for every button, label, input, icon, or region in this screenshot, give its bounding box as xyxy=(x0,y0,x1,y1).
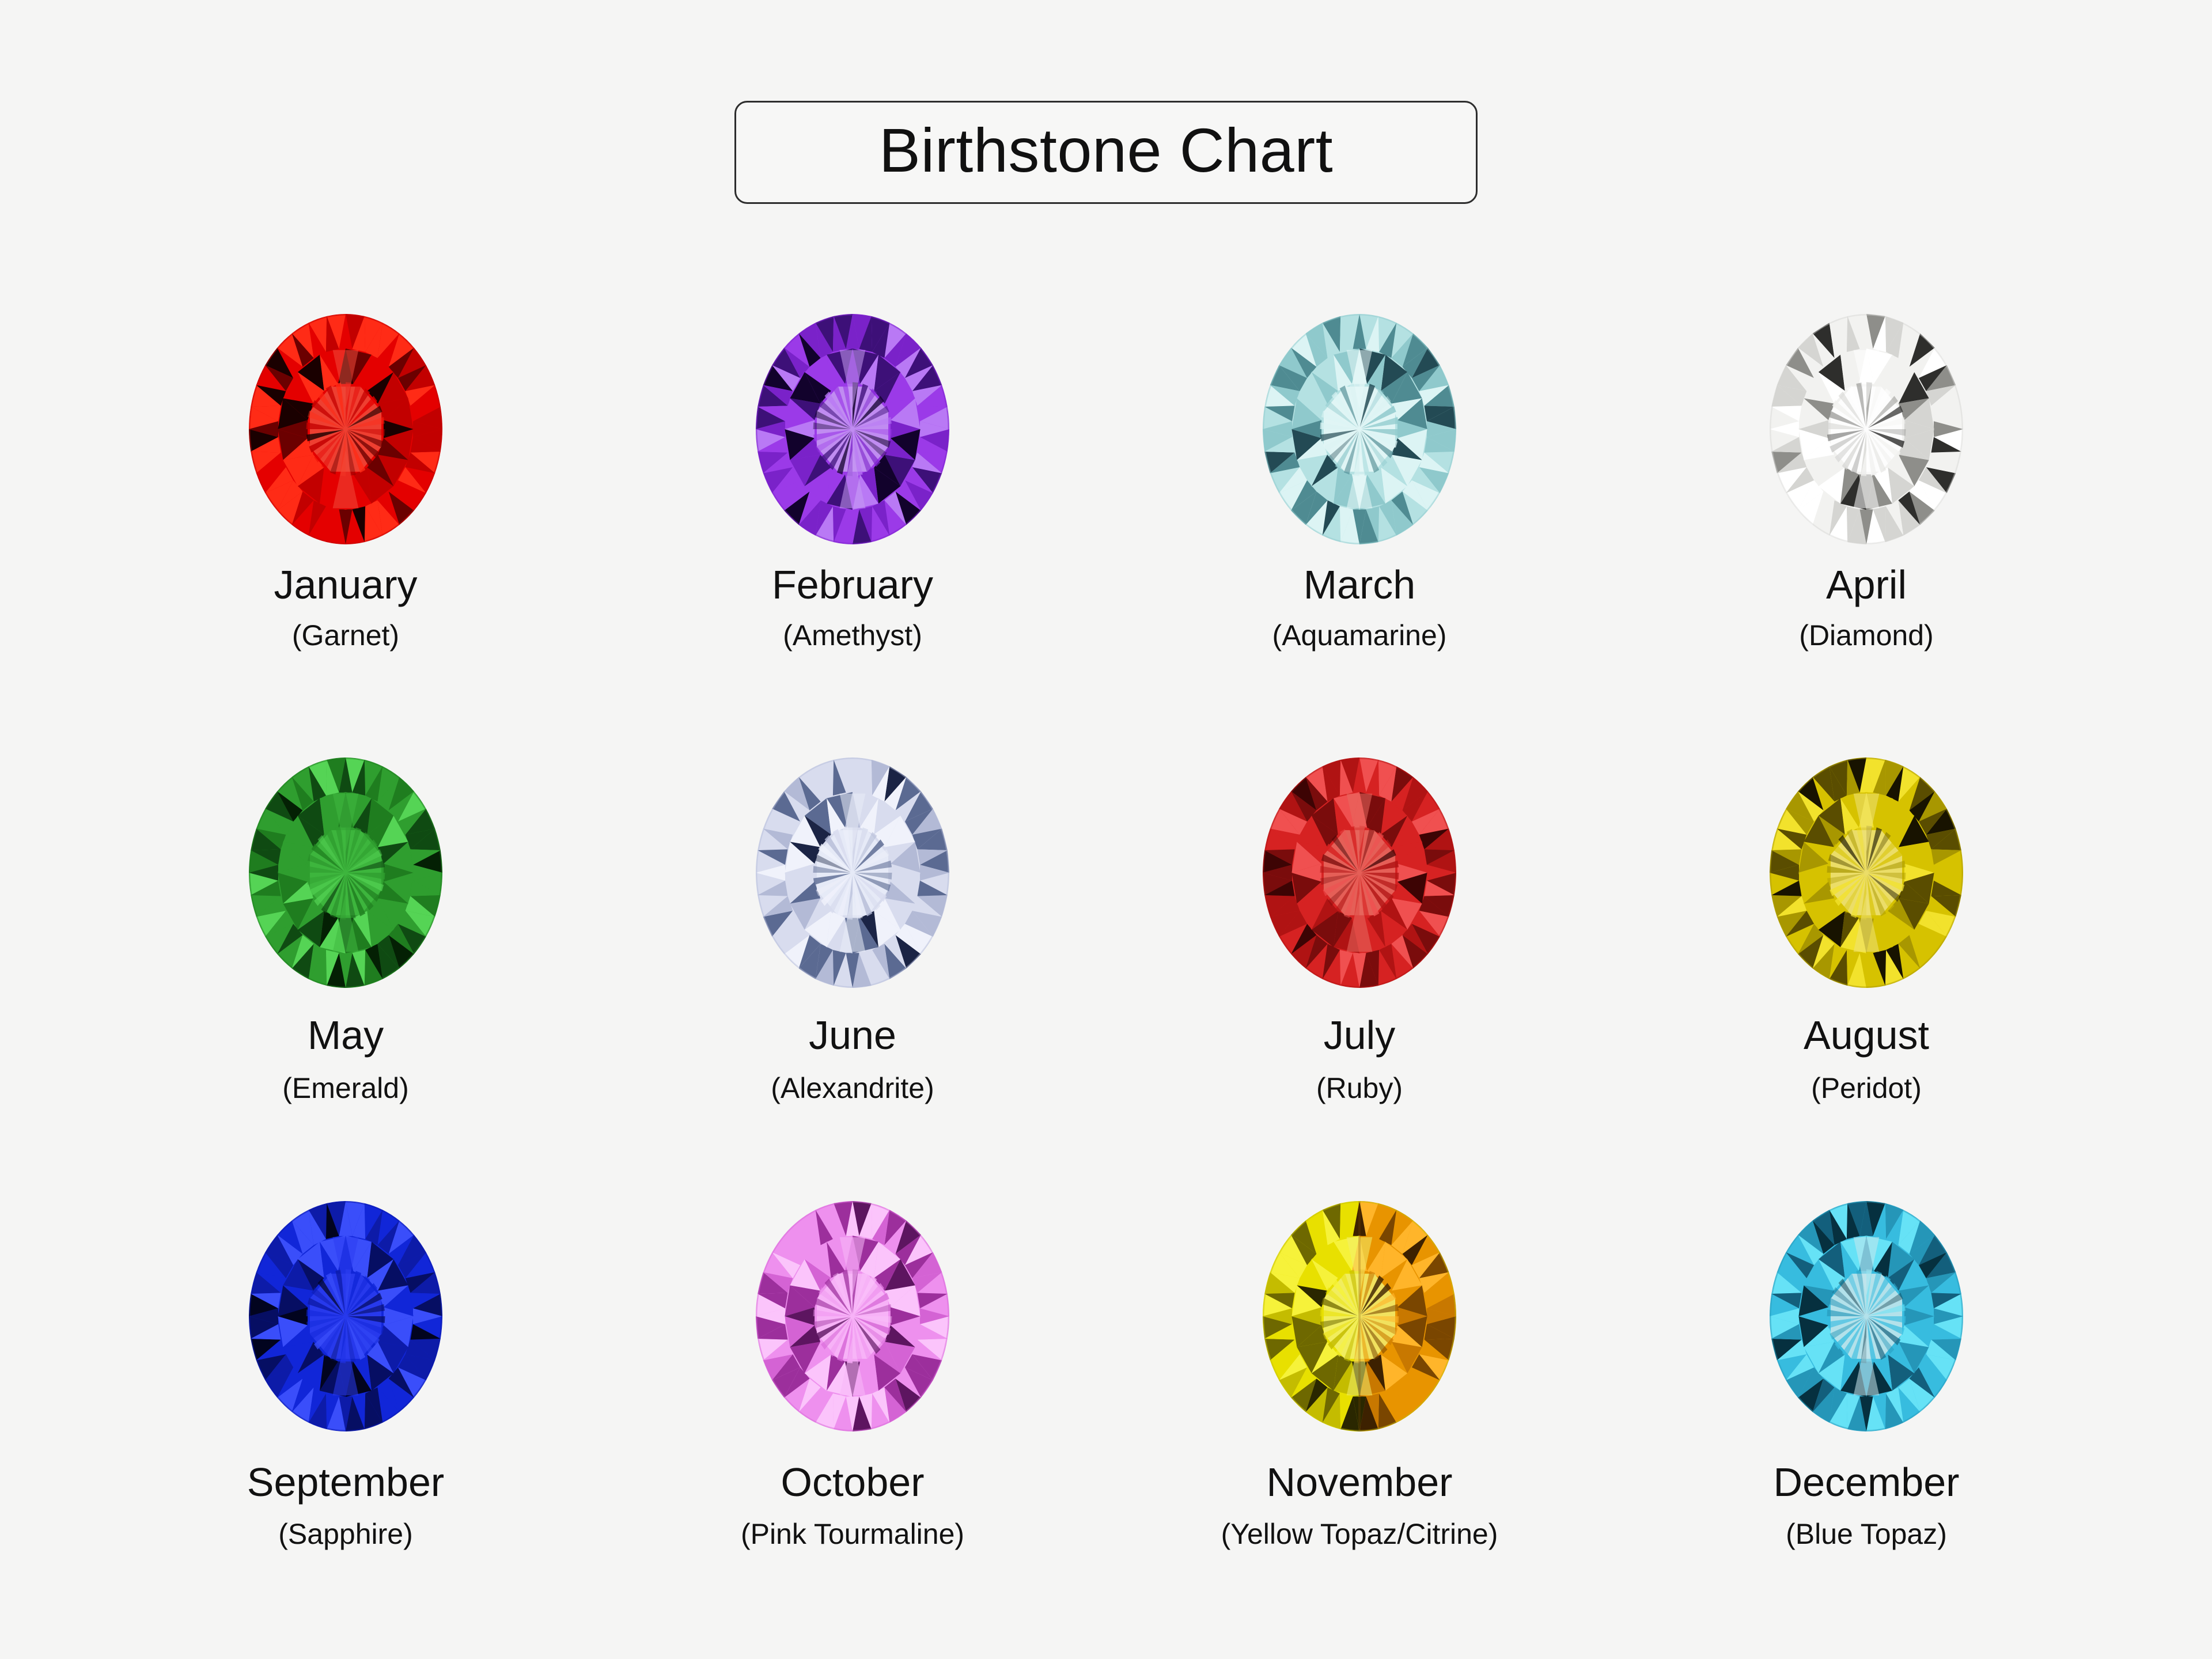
month-label: July xyxy=(1324,1015,1395,1055)
stone-label: (Amethyst) xyxy=(783,621,922,650)
gem-alexandrite-icon xyxy=(734,755,971,991)
gem-image-april xyxy=(1748,311,1984,547)
stone-label: (Garnet) xyxy=(292,621,399,650)
stone-label: (Ruby) xyxy=(1316,1074,1403,1103)
birthstone-cell-september[interactable]: September(Sapphire) xyxy=(92,1198,599,1642)
gem-aquamarine-icon xyxy=(1241,311,1478,547)
stone-label: (Alexandrite) xyxy=(771,1074,934,1103)
stone-label: (Aquamarine) xyxy=(1272,621,1447,650)
birthstone-chart-page: Birthstone Chart January(Garnet)February… xyxy=(0,0,2212,1659)
gem-image-february xyxy=(734,311,971,547)
month-label: April xyxy=(1826,565,1907,605)
birthstone-cell-july[interactable]: July(Ruby) xyxy=(1106,755,1613,1198)
stone-label: (Yellow Topaz/Citrine) xyxy=(1221,1520,1498,1548)
stone-label: (Pink Tourmaline) xyxy=(741,1520,964,1548)
month-label: May xyxy=(308,1015,384,1055)
gem-image-july xyxy=(1241,755,1478,991)
gem-amethyst-icon xyxy=(734,311,971,547)
month-label: October xyxy=(781,1462,925,1502)
gem-peridot-icon xyxy=(1748,755,1984,991)
month-label: February xyxy=(772,565,933,605)
month-label: June xyxy=(809,1015,896,1055)
stone-label: (Blue Topaz) xyxy=(1786,1520,1947,1548)
birthstone-cell-august[interactable]: August(Peridot) xyxy=(1613,755,2120,1198)
month-label: December xyxy=(1774,1462,1960,1502)
gem-sapphire-icon xyxy=(228,1198,464,1434)
gem-blue-topaz-icon xyxy=(1748,1198,1984,1434)
gem-image-january xyxy=(228,311,464,547)
month-label: September xyxy=(247,1462,444,1502)
gem-image-august xyxy=(1748,755,1984,991)
birthstone-cell-october[interactable]: October(Pink Tourmaline) xyxy=(599,1198,1106,1642)
gem-diamond-icon xyxy=(1748,311,1984,547)
birthstone-cell-march[interactable]: March(Aquamarine) xyxy=(1106,311,1613,755)
page-title: Birthstone Chart xyxy=(798,118,1414,183)
stone-label: (Emerald) xyxy=(282,1074,408,1103)
gem-image-december xyxy=(1748,1198,1984,1434)
gem-image-may xyxy=(228,755,464,991)
month-label: January xyxy=(274,565,417,605)
gem-image-october xyxy=(734,1198,971,1434)
gem-image-september xyxy=(228,1198,464,1434)
title-box: Birthstone Chart xyxy=(734,101,1478,204)
birthstone-cell-april[interactable]: April(Diamond) xyxy=(1613,311,2120,755)
stone-label: (Diamond) xyxy=(1799,621,1933,650)
gem-image-march xyxy=(1241,311,1478,547)
birthstone-cell-february[interactable]: February(Amethyst) xyxy=(599,311,1106,755)
title-container: Birthstone Chart xyxy=(0,101,2212,204)
month-label: August xyxy=(1804,1015,1929,1055)
gem-emerald-icon xyxy=(228,755,464,991)
stone-label: (Peridot) xyxy=(1811,1074,1922,1103)
gem-pink-tourmaline-icon xyxy=(734,1198,971,1434)
birthstone-cell-june[interactable]: June(Alexandrite) xyxy=(599,755,1106,1198)
birthstone-cell-november[interactable]: November(Yellow Topaz/Citrine) xyxy=(1106,1198,1613,1642)
birthstone-grid: January(Garnet)February(Amethyst)March(A… xyxy=(92,311,2120,1642)
month-label: March xyxy=(1304,565,1415,605)
birthstone-cell-january[interactable]: January(Garnet) xyxy=(92,311,599,755)
gem-image-june xyxy=(734,755,971,991)
month-label: November xyxy=(1267,1462,1453,1502)
gem-garnet-icon xyxy=(228,311,464,547)
gem-yellow-topaz-citrine-icon xyxy=(1241,1198,1478,1434)
gem-ruby-icon xyxy=(1241,755,1478,991)
birthstone-cell-december[interactable]: December(Blue Topaz) xyxy=(1613,1198,2120,1642)
gem-image-november xyxy=(1241,1198,1478,1434)
stone-label: (Sapphire) xyxy=(278,1520,412,1548)
birthstone-cell-may[interactable]: May(Emerald) xyxy=(92,755,599,1198)
